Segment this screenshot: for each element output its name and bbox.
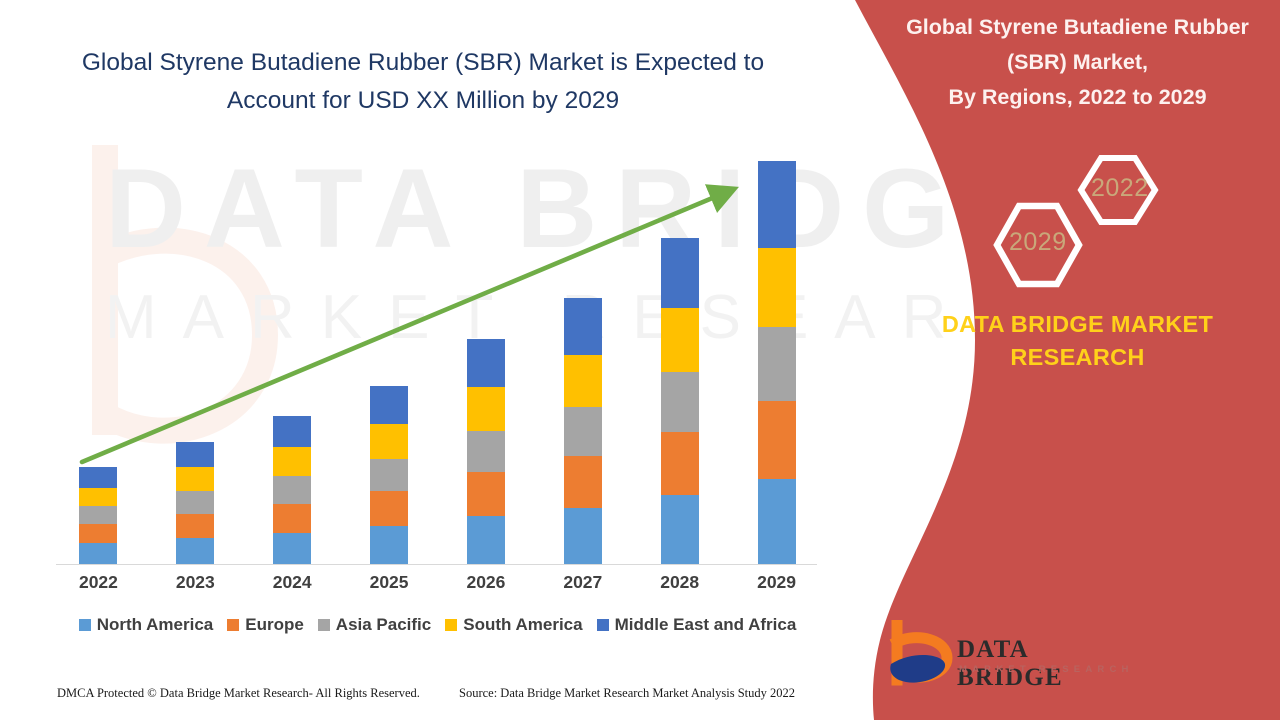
source-text: Source: Data Bridge Market Research Mark…	[459, 686, 795, 701]
copyright-text: DMCA Protected © Data Bridge Market Rese…	[57, 686, 420, 701]
legend-label: South America	[463, 615, 582, 635]
x-axis-label-2022: 2022	[63, 572, 133, 593]
brand-name: DATA BRIDGE MARKET RESEARCH	[875, 308, 1280, 375]
x-axis-label-2029: 2029	[742, 572, 812, 593]
x-axis-label-2025: 2025	[354, 572, 424, 593]
x-axis-label-2027: 2027	[548, 572, 618, 593]
brand-name-line-1: DATA BRIDGE MARKET	[875, 308, 1280, 341]
legend-label: Europe	[245, 615, 304, 635]
hexagon-shapes-icon	[983, 150, 1183, 290]
x-axis-label-2024: 2024	[257, 572, 327, 593]
data-bridge-logo: DATA BRIDGE MARKET RESEARCH	[885, 620, 1135, 700]
legend-item-middle-east-and-africa[interactable]: Middle East and Africa	[597, 615, 797, 635]
x-axis-label-2028: 2028	[645, 572, 715, 593]
legend-item-north-america[interactable]: North America	[79, 615, 214, 635]
x-axis-labels: 20222023202420252026202720282029	[50, 572, 825, 598]
right-panel-title-line-1: Global Styrene Butadiene Rubber	[875, 10, 1280, 45]
x-axis-label-2026: 2026	[451, 572, 521, 593]
legend-swatch-icon	[227, 619, 239, 631]
right-panel-content: Global Styrene Butadiene Rubber (SBR) Ma…	[875, 0, 1280, 720]
x-axis-label-2023: 2023	[160, 572, 230, 593]
stacked-bar-chart	[50, 150, 825, 565]
chart-legend: North AmericaEuropeAsia PacificSouth Ame…	[50, 615, 825, 635]
legend-label: North America	[97, 615, 214, 635]
legend-swatch-icon	[318, 619, 330, 631]
right-panel-title: Global Styrene Butadiene Rubber (SBR) Ma…	[875, 10, 1280, 114]
legend-swatch-icon	[597, 619, 609, 631]
logo-tagline: MARKET RESEARCH	[959, 664, 1134, 675]
legend-item-asia-pacific[interactable]: Asia Pacific	[318, 615, 431, 635]
brand-name-line-2: RESEARCH	[875, 341, 1280, 374]
hexagon-year-2029: 2029	[1009, 228, 1067, 257]
right-panel-title-line-2: (SBR) Market,	[875, 45, 1280, 80]
page-title: Global Styrene Butadiene Rubber (SBR) Ma…	[58, 44, 788, 120]
legend-swatch-icon	[445, 619, 457, 631]
hexagon-group: 2022 2029	[983, 150, 1183, 290]
legend-item-europe[interactable]: Europe	[227, 615, 304, 635]
hexagon-year-2022: 2022	[1091, 174, 1149, 203]
legend-label: Asia Pacific	[336, 615, 431, 635]
infographic-canvas: DATA BRIDGE MARKET RESEARCH Global Styre…	[0, 0, 1280, 720]
data-bridge-mark-icon	[885, 620, 957, 694]
legend-swatch-icon	[79, 619, 91, 631]
right-panel-title-line-3: By Regions, 2022 to 2029	[875, 80, 1280, 115]
legend-label: Middle East and Africa	[615, 615, 797, 635]
green-growth-arrow-icon	[50, 150, 825, 565]
legend-item-south-america[interactable]: South America	[445, 615, 582, 635]
